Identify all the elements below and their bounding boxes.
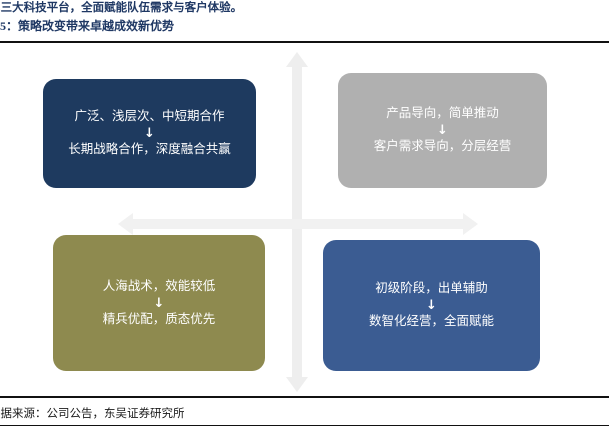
previous-paragraph-text: 4.三大科技平台，全面赋能队伍需求与客户体验。 [0, 0, 609, 15]
quadrant-box-bottom-left: 人海战术，效能较低 ↓ 精兵优配，质态优先 [53, 235, 265, 371]
quadrant-to-text: 数智化经营，全面赋能 [363, 314, 500, 330]
arrow-right-icon [463, 213, 478, 235]
arrow-up-icon [286, 52, 308, 67]
quadrant-from-text: 广泛、浅层次、中短期合作 [68, 109, 230, 125]
down-arrow-icon: ↓ [144, 127, 155, 140]
figure-title: 图5：策略改变带来卓越成效新优势 [0, 17, 608, 34]
quadrant-diagram: 广泛、浅层次、中短期合作 ↓ 长期战略合作，深度融合共赢 产品导向，简单推动 ↓… [0, 44, 609, 394]
source-divider-rule-top [0, 396, 609, 398]
arrow-down-icon [286, 377, 308, 392]
quadrant-to-text: 客户需求导向，分层经营 [368, 139, 518, 155]
down-arrow-icon: ↓ [426, 299, 437, 312]
source-divider-rule-bottom [0, 425, 609, 426]
horizontal-axis-arrow [118, 213, 478, 235]
down-arrow-icon: ↓ [437, 124, 448, 137]
quadrant-to-text: 精兵优配，质态优先 [97, 312, 222, 328]
down-arrow-icon: ↓ [154, 297, 165, 310]
quadrant-from-text: 产品导向，简单推动 [380, 106, 505, 122]
source-note: 数据来源：公司公告，东吴证券研究所 [0, 405, 609, 421]
horizontal-axis-shaft [132, 219, 464, 229]
title-divider-rule [0, 41, 609, 43]
quadrant-box-top-right: 产品导向，简单推动 ↓ 客户需求导向，分层经营 [338, 73, 547, 188]
quadrant-from-text: 人海战术，效能较低 [97, 279, 222, 295]
quadrant-box-bottom-right: 初级阶段，出单辅助 ↓ 数智化经营，全面赋能 [323, 240, 540, 371]
quadrant-box-top-left: 广泛、浅层次、中短期合作 ↓ 长期战略合作，深度融合共赢 [43, 79, 256, 188]
quadrant-from-text: 初级阶段，出单辅助 [369, 281, 494, 297]
arrow-left-icon [118, 213, 133, 235]
quadrant-to-text: 长期战略合作，深度融合共赢 [62, 142, 237, 158]
